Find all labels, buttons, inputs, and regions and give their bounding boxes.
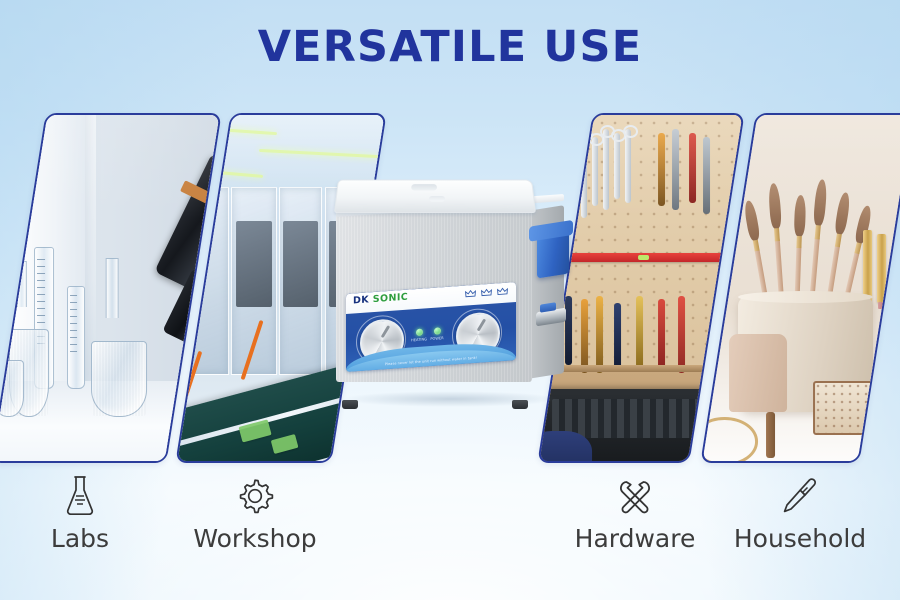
page-title: VERSATILE USE [0,26,900,69]
power-led-label: POWER [426,336,448,342]
crown-icon [481,288,492,298]
tank-lid [334,180,536,213]
gear-icon [165,472,345,520]
tank-foot [342,400,358,409]
feature-label: Household [710,526,890,551]
feature-label: Workshop [165,526,345,551]
feature-household: Household [710,472,890,551]
flask-icon [14,472,146,520]
feature-labs: Labs [14,472,146,551]
feature-hardware: Hardware [545,472,725,551]
blue-handle [537,229,569,278]
wrench-screwdriver-icon [545,472,725,520]
versatile-use-banner: VERSATILE USE [0,0,900,600]
makeup-brush-icon [710,472,890,520]
feature-label: Labs [14,526,146,551]
tank-foot [512,400,528,409]
ultrasonic-cleaner-product: DK SONIC TIMER HEATER HEATING [330,178,570,403]
feature-label: Hardware [545,526,725,551]
heating-led [416,329,423,336]
crown-icon [497,287,508,297]
control-panel: DK SONIC TIMER HEATER HEATING [346,282,516,372]
power-led [434,327,441,334]
brand-dk: DK [353,294,369,306]
feature-workshop: Workshop [165,472,345,551]
crown-icon [465,289,476,299]
feature-row: Labs Workshop Hardware [0,472,900,582]
